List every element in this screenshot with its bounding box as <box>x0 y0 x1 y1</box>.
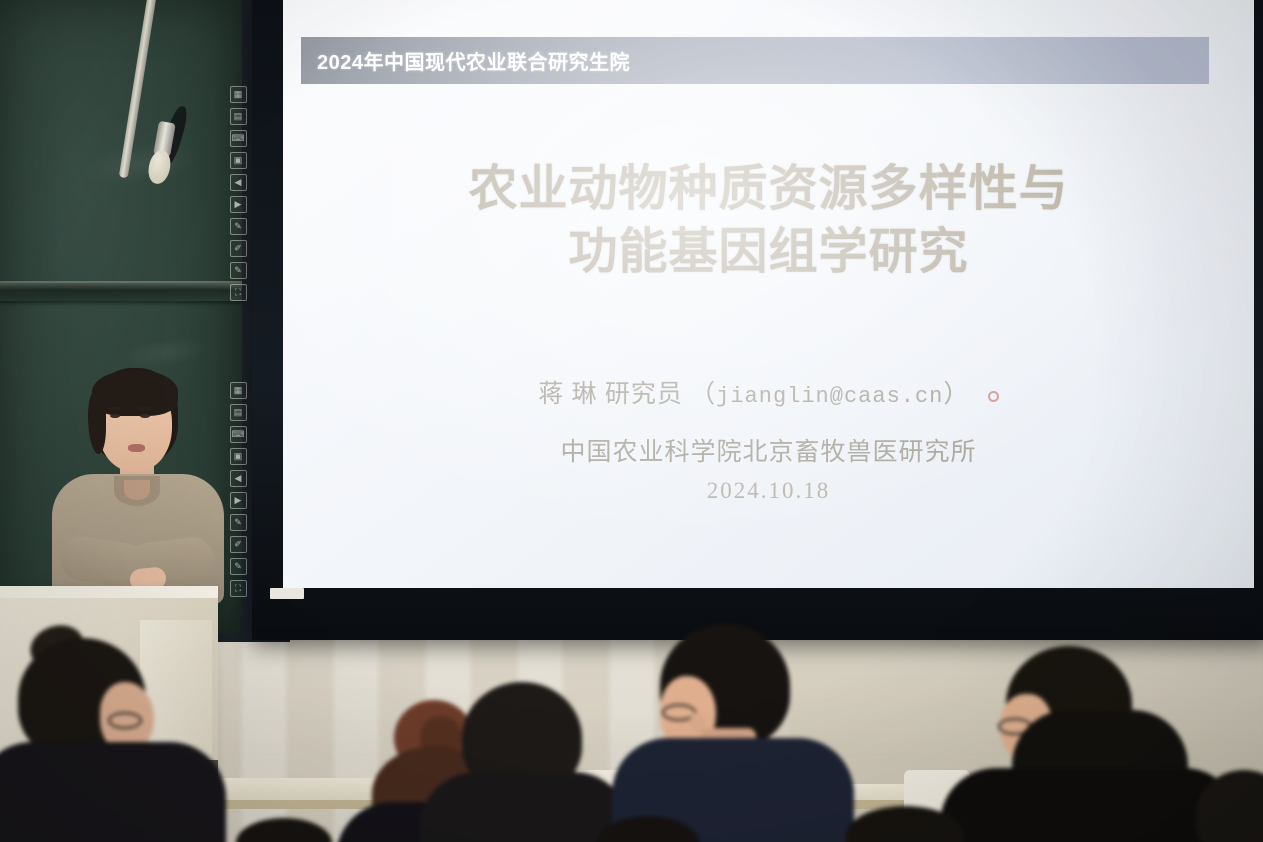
speaker-collar <box>114 476 160 506</box>
document-icon[interactable]: ▤ <box>230 404 247 421</box>
chalk-tray <box>0 283 242 301</box>
slide-presenter-line: 蒋 琳 研究员 （jianglin@caas.cn） <box>283 374 1254 410</box>
list-item <box>420 772 630 842</box>
paren-open: （ <box>690 381 716 408</box>
podium-top <box>0 586 218 598</box>
list-item <box>940 768 1240 842</box>
paren-close: ） <box>943 381 969 408</box>
speaker-figure <box>48 368 226 600</box>
pen-icon[interactable]: ✎ <box>230 514 247 531</box>
speaker-hair-side <box>88 390 106 454</box>
glasses-icon <box>108 712 142 729</box>
eraser-icon[interactable]: ✎ <box>230 262 247 279</box>
slide-date: 2024.10.18 <box>283 478 1254 504</box>
expand-icon[interactable]: ⛶ <box>230 284 247 301</box>
presenter-email: jianglin@caas.cn <box>716 384 943 409</box>
speaker-eyebrow <box>108 407 121 410</box>
expand-icon[interactable]: ⛶ <box>230 580 247 597</box>
screen-model-label <box>270 588 304 599</box>
lecture-hall-scene: ▦ ▤ ⌨ ▣ ◀ ▶ ✎ ✐ ✎ ⛶ ▦ ▤ ⌨ ▣ ◀ ▶ ✎ ✐ ✎ ⛶ … <box>0 0 1263 842</box>
pen-thin-icon[interactable]: ✐ <box>230 240 247 257</box>
volume-icon[interactable]: ◀ <box>230 470 247 487</box>
list-item <box>0 742 226 842</box>
pen-thin-icon[interactable]: ✐ <box>230 536 247 553</box>
keyboard-icon[interactable]: ⌨ <box>230 426 247 443</box>
speaker-eye <box>110 414 120 418</box>
speaker-mouth <box>128 444 145 452</box>
screen-icon[interactable]: ▣ <box>230 448 247 465</box>
speaker-eye <box>140 414 150 418</box>
play-icon[interactable]: ▶ <box>230 492 247 509</box>
grid-icon[interactable]: ▦ <box>230 382 247 399</box>
eraser-icon[interactable]: ✎ <box>230 558 247 575</box>
board-toolbar-bottom[interactable]: ▦ ▤ ⌨ ▣ ◀ ▶ ✎ ✐ ✎ ⛶ <box>226 382 250 597</box>
period-mark-icon <box>988 391 999 402</box>
speaker-eyebrow <box>139 407 152 410</box>
slide-affiliation: 中国农业科学院北京畜牧兽医研究所 <box>283 432 1254 468</box>
audience-group <box>0 0 1263 242</box>
presenter-name: 蒋 琳 研究员 <box>538 381 683 408</box>
